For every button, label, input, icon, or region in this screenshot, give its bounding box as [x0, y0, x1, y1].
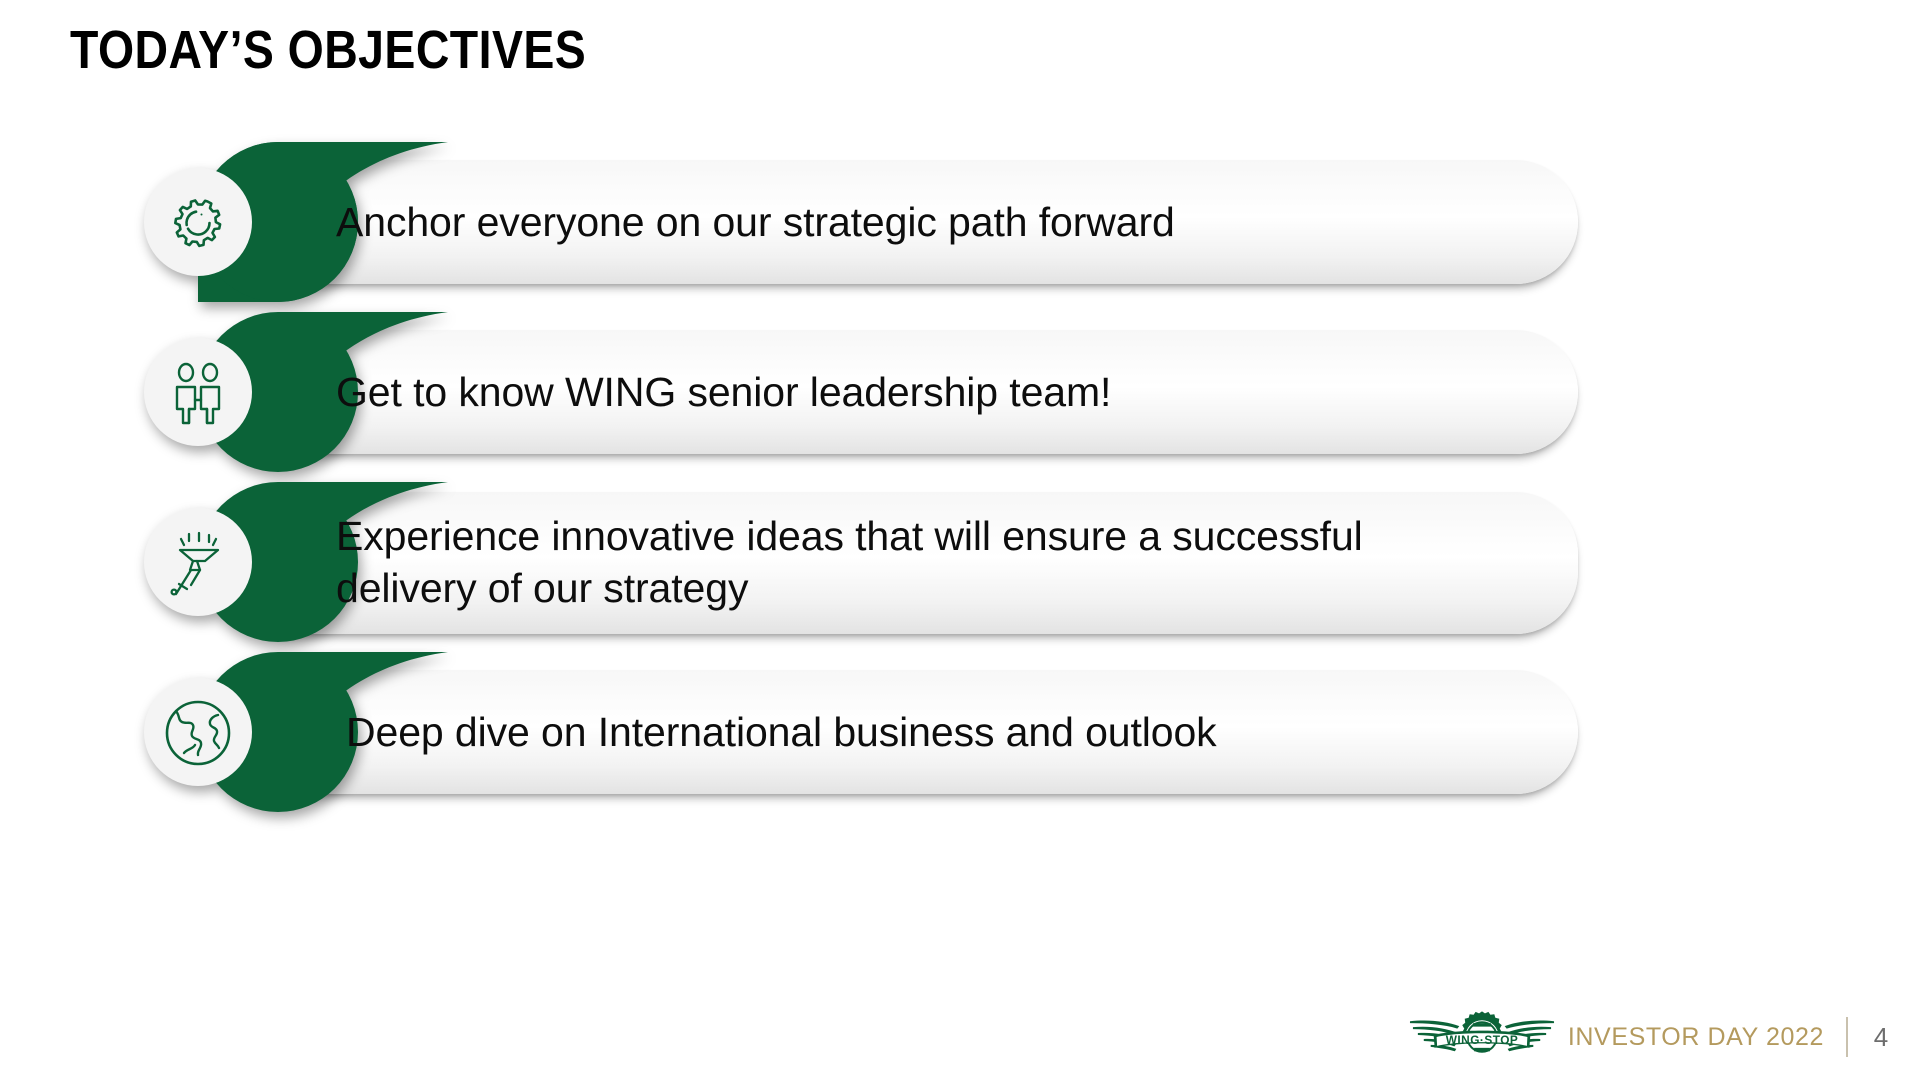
objective-row[interactable]: Anchor everyone on our strategic path fo… [118, 142, 1798, 302]
objective-text: Anchor everyone on our strategic path fo… [336, 142, 1516, 302]
svg-text:WING·STOP: WING·STOP [1446, 1033, 1519, 1047]
page-title: TODAY’S OBJECTIVES [70, 22, 586, 79]
wingstop-logo: WING·STOP [1408, 1008, 1556, 1066]
slide-footer: WING·STOP INVESTOR DAY 2022 4 [1408, 1006, 1892, 1068]
objective-text: Deep dive on International business and … [346, 652, 1526, 812]
footer-event-label: INVESTOR DAY 2022 [1568, 1023, 1824, 1052]
objective-row[interactable]: Deep dive on International business and … [118, 652, 1798, 812]
objective-text: Experience innovative ideas that will en… [336, 482, 1476, 642]
page-number: 4 [1870, 1022, 1892, 1053]
objective-row[interactable]: Experience innovative ideas that will en… [118, 482, 1798, 642]
footer-divider [1846, 1017, 1848, 1057]
objective-row[interactable]: Get to know WING senior leadership team! [118, 312, 1798, 472]
slide-canvas: TODAY’S OBJECTIVES Anchor everyone on ou… [0, 0, 1920, 1080]
objective-text: Get to know WING senior leadership team! [336, 312, 1516, 472]
